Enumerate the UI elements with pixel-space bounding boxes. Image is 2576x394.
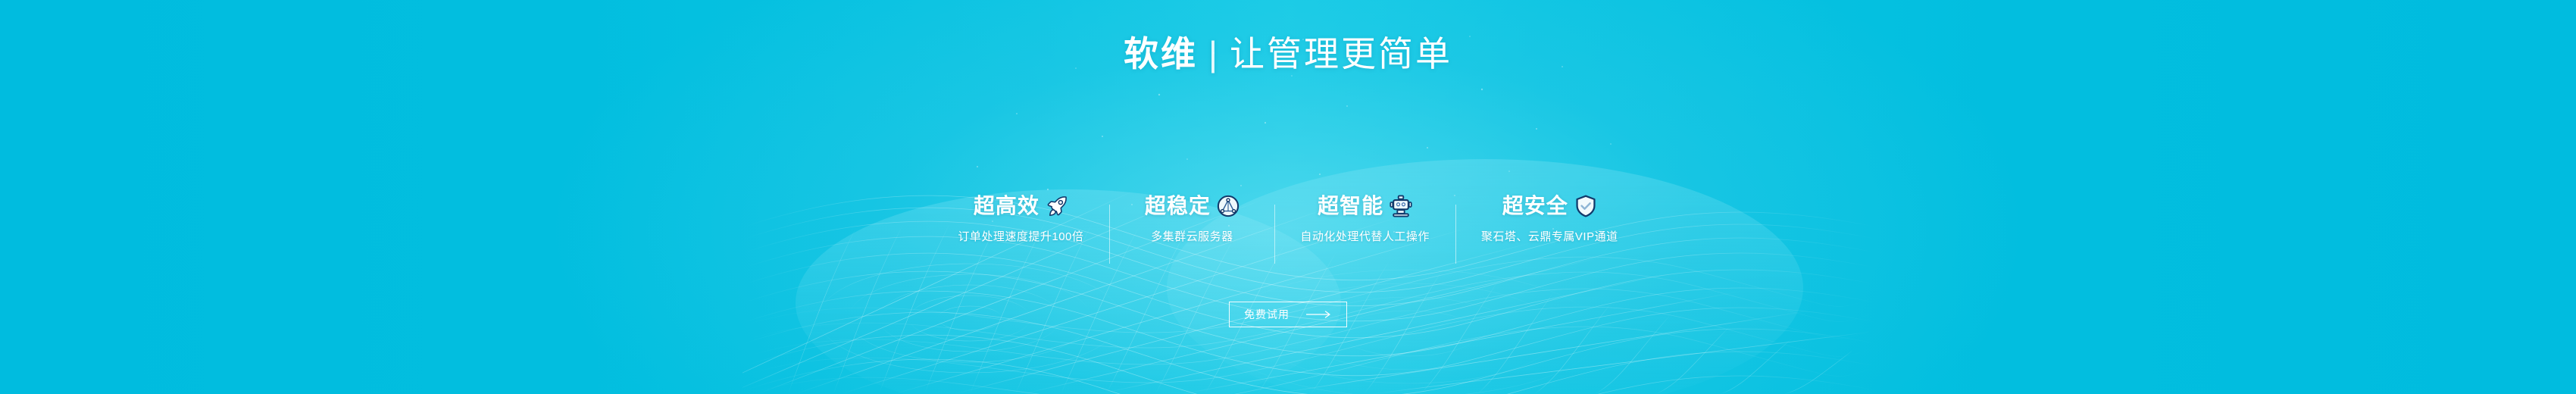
free-trial-label: 免费试用 <box>1244 309 1290 320</box>
arrow-right-icon <box>1306 308 1332 321</box>
feature-description: 多集群云服务器 <box>1135 231 1249 242</box>
feature-description: 自动化处理代替人工操作 <box>1300 231 1430 242</box>
feature-title: 超高效 <box>974 195 1039 217</box>
robot-icon <box>1390 195 1412 217</box>
feature-heading: 超安全 <box>1481 191 1618 221</box>
feature-heading: 超稳定 <box>1135 191 1249 221</box>
hero-banner: 软维|让管理更简单 超高效 订单处理速度提升100倍 <box>0 0 2576 394</box>
shield-check-icon <box>1574 195 1597 217</box>
feature-title: 超稳定 <box>1145 195 1211 217</box>
feature-item-intelligence: 超智能 自动化处理代替人工操作 <box>1274 191 1455 242</box>
feature-description: 订单处理速度提升100倍 <box>958 231 1083 242</box>
feature-title: 超智能 <box>1318 195 1383 217</box>
brand-name: 软维 <box>1124 34 1198 73</box>
feature-list: 超高效 订单处理速度提升100倍 超稳定 <box>0 191 2576 242</box>
feature-item-security: 超安全 聚石塔、云鼎专属VIP通道 <box>1455 191 1644 242</box>
page-title: 软维|让管理更简单 <box>0 36 2576 71</box>
cluster-network-icon <box>1217 195 1240 217</box>
feature-item-stability: 超稳定 多集群云服务器 <box>1109 191 1274 242</box>
feature-description: 聚石塔、云鼎专属VIP通道 <box>1481 231 1618 242</box>
feature-heading: 超高效 <box>958 191 1083 221</box>
free-trial-button[interactable]: 免费试用 <box>1229 302 1347 327</box>
feature-title: 超安全 <box>1502 195 1568 217</box>
feature-item-efficiency: 超高效 订单处理速度提升100倍 <box>932 191 1109 242</box>
banner-content: 软维|让管理更简单 超高效 订单处理速度提升100倍 <box>0 0 2576 394</box>
cta-row: 免费试用 <box>0 302 2576 327</box>
title-separator: | <box>1208 36 1219 71</box>
rocket-icon <box>1046 195 1068 217</box>
feature-heading: 超智能 <box>1300 191 1430 221</box>
tagline: 让管理更简单 <box>1230 34 1452 73</box>
